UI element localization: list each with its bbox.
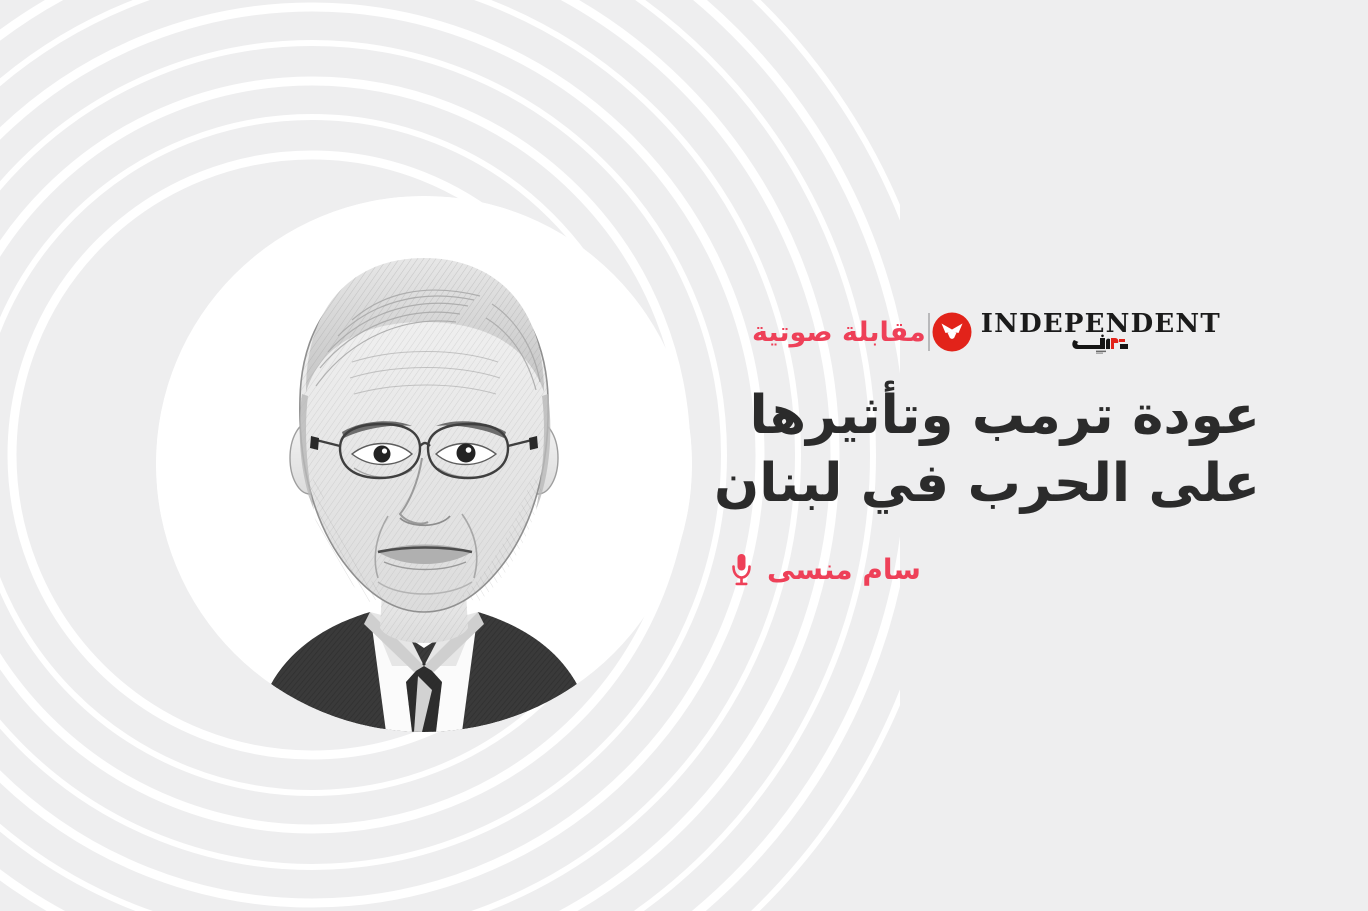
brand-words: INDEPENDENT (981, 311, 1221, 354)
vertical-divider (928, 313, 930, 351)
microphone-icon (730, 553, 753, 587)
brand-arabic-mark (1070, 334, 1132, 354)
headline-line-2: على الحرب في لبنان (730, 450, 1260, 518)
meta-row: مقابلة صوتية INDEPENDENT (730, 304, 1260, 360)
kicker-label: مقابلة صوتية (730, 319, 926, 346)
content-column: مقابلة صوتية INDEPENDENT (730, 304, 1260, 587)
brand-lockup[interactable]: INDEPENDENT (932, 311, 1247, 354)
headline-line-1: عودة ترمب وتأثيرها (730, 382, 1260, 450)
portrait-avatar (156, 196, 692, 732)
page-title: عودة ترمب وتأثيرها على الحرب في لبنان (730, 382, 1260, 518)
byline-author-name: سام منسى (767, 556, 921, 584)
audio-interview-card: مقابلة صوتية INDEPENDENT (0, 0, 1368, 911)
independent-eagle-icon (932, 312, 972, 352)
byline: سام منسى (730, 553, 1260, 587)
